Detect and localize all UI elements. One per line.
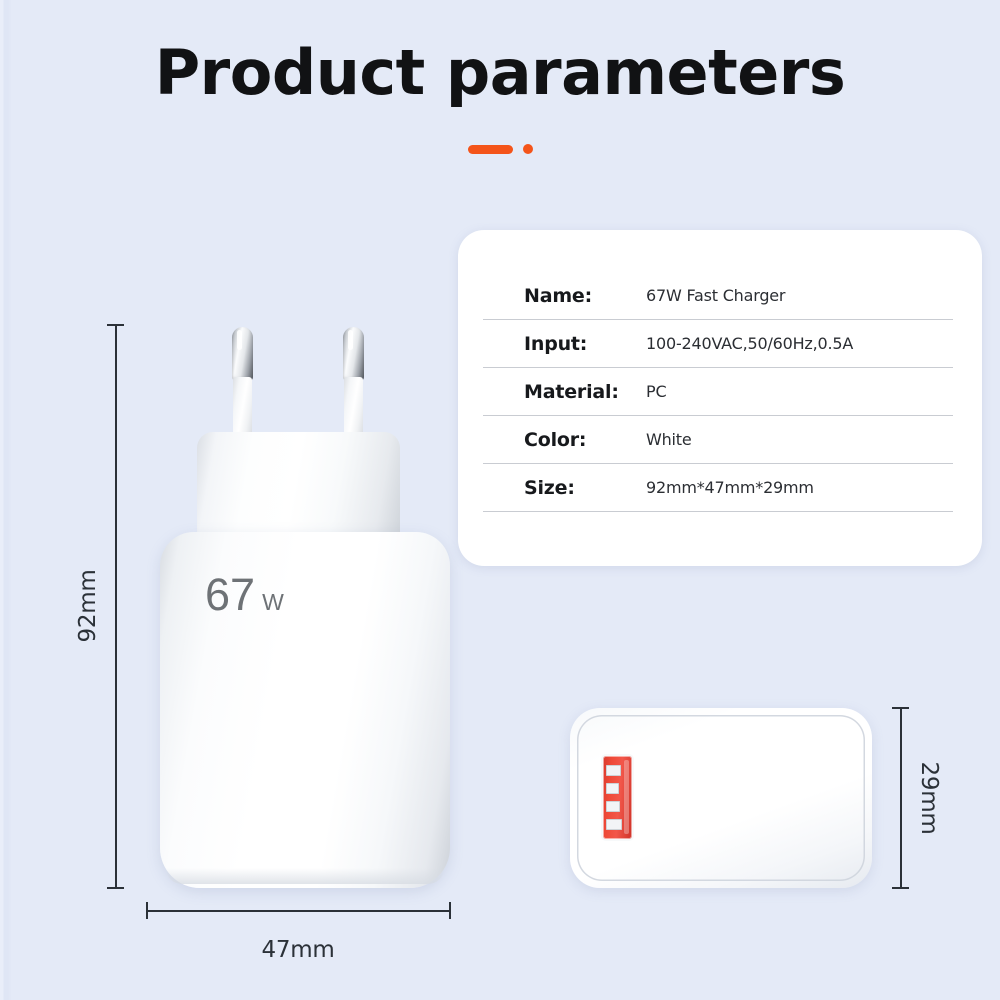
charger-neck [197, 432, 400, 540]
dimension-line [900, 708, 902, 889]
spec-value-size: 92mm*47mm*29mm [646, 478, 814, 497]
pin-metal-tip [232, 327, 253, 381]
dimension-cap-right [449, 902, 451, 919]
dimension-label-width: 47mm [262, 937, 335, 963]
spec-value-input: 100-240VAC,50/60Hz,0.5A [646, 334, 853, 353]
usb-contact [606, 765, 621, 776]
page-title: Product parameters [0, 38, 1000, 108]
eu-plug-pin-icon [232, 327, 253, 445]
charger-body [160, 532, 450, 888]
orange-dot [523, 144, 533, 154]
table-row: Size: 92mm*47mm*29mm [483, 464, 953, 512]
table-row: Name: 67W Fast Charger [483, 272, 953, 320]
usb-port-highlight [624, 760, 629, 834]
title-divider-decoration [0, 142, 1000, 156]
wattage-unit: W [262, 591, 284, 614]
spec-table: Name: 67W Fast Charger Input: 100-240VAC… [483, 272, 953, 512]
dimension-cap-top [892, 707, 909, 709]
table-row: Material: PC [483, 368, 953, 416]
dimension-line [115, 325, 117, 888]
table-row: Color: White [483, 416, 953, 464]
charger-bottom-view [570, 708, 872, 888]
dimension-label-height: 92mm [75, 570, 101, 643]
usb-contact [606, 783, 619, 794]
usb-contacts [606, 765, 621, 830]
dimension-cap-bottom [107, 887, 124, 889]
spec-label-size: Size: [483, 477, 646, 499]
usb-a-port-icon [603, 756, 632, 839]
dimension-cap-bottom [892, 887, 909, 889]
charger-front-view: 67 W [150, 320, 460, 895]
dimension-label-depth: 29mm [916, 762, 942, 835]
wattage-marking: 67 W [205, 572, 284, 617]
infographic-canvas: Product parameters Name: 67W Fast Charge… [0, 0, 1000, 1000]
spec-card: Name: 67W Fast Charger Input: 100-240VAC… [458, 230, 982, 566]
spec-value-name: 67W Fast Charger [646, 286, 785, 305]
spec-label-input: Input: [483, 333, 646, 355]
dimension-cap-top [107, 324, 124, 326]
table-row: Input: 100-240VAC,50/60Hz,0.5A [483, 320, 953, 368]
usb-contact [606, 819, 622, 830]
spec-label-color: Color: [483, 429, 646, 451]
usb-contact [606, 801, 620, 812]
eu-plug-pin-icon [343, 327, 364, 445]
spec-value-color: White [646, 430, 692, 449]
spec-value-material: PC [646, 382, 666, 401]
orange-dash [468, 145, 513, 154]
wattage-number: 67 [205, 572, 255, 617]
spec-label-material: Material: [483, 381, 646, 403]
pin-metal-tip [343, 327, 364, 381]
dimension-cap-left [146, 902, 148, 919]
spec-label-name: Name: [483, 285, 646, 307]
dimension-line [146, 910, 451, 912]
